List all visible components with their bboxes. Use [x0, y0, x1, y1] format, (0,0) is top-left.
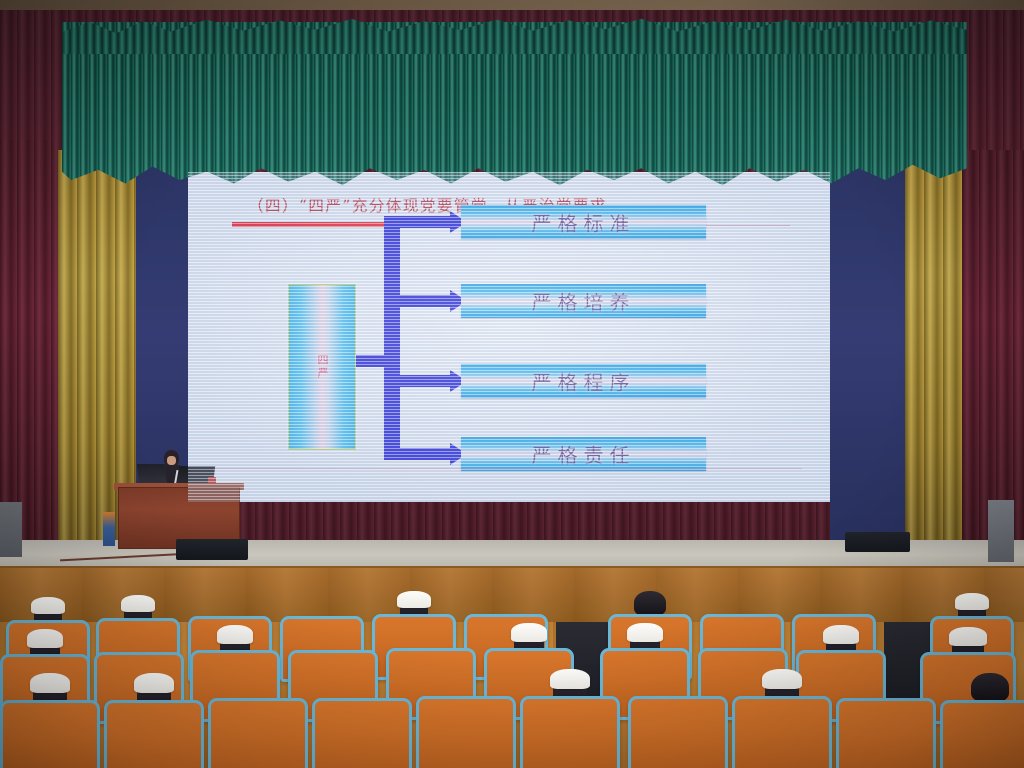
- nurse-cap-icon: [31, 597, 65, 614]
- stage-prop-object: [103, 512, 115, 546]
- nurse-cap-icon: [550, 669, 590, 690]
- auditorium-seat[interactable]: [0, 700, 100, 768]
- slide-footer-rule: [192, 468, 802, 469]
- nurse-cap-icon: [762, 669, 802, 690]
- nurse-cap-icon: [397, 591, 431, 608]
- auditorium-seat[interactable]: [520, 696, 620, 768]
- nurse-cap-icon: [30, 673, 70, 694]
- arrow-shaft: [388, 295, 456, 307]
- nurse-cap-icon: [134, 673, 174, 694]
- attendee-hair: [634, 591, 667, 616]
- pa-speaker-right: [988, 500, 1014, 562]
- stage-monitor-right: [845, 532, 910, 552]
- nurse-cap-icon: [121, 595, 155, 612]
- arrow-shaft: [388, 375, 456, 387]
- presenter-face: [167, 456, 176, 465]
- auditorium-seat[interactable]: [312, 698, 412, 768]
- nurse-cap-icon: [27, 629, 63, 648]
- nurse-cap-icon: [627, 623, 663, 642]
- slide-item-label-1: 严格标准: [461, 208, 706, 237]
- nurse-cap-icon: [955, 593, 989, 610]
- auditorium-seat[interactable]: [732, 696, 832, 768]
- arrow-shaft: [388, 216, 456, 228]
- nurse-cap-icon: [217, 625, 253, 644]
- stage-panel-navy-right: [830, 150, 906, 560]
- slide-item-bar-1: 严格标准: [461, 205, 706, 239]
- slide-item-bar-2: 严格培养: [461, 284, 706, 318]
- auditorium-seat[interactable]: [416, 696, 516, 768]
- bracket-spine: [384, 216, 400, 460]
- slide-item-label-2: 严格培养: [461, 287, 706, 316]
- diagram-source-label: 四严: [314, 354, 330, 380]
- auditorium-seat[interactable]: [836, 698, 936, 768]
- nurse-cap-icon: [823, 625, 859, 644]
- diagram-source-box: 四严: [288, 284, 356, 450]
- projection-screen[interactable]: （四）“四严”充分体现党要管党、从严治党要求 四严 严格标准: [188, 172, 830, 502]
- arrow-shaft: [388, 448, 456, 460]
- attendee-hair: [971, 673, 1009, 703]
- auditorium-seat[interactable]: [104, 700, 204, 768]
- nurse-cap-icon: [511, 623, 547, 642]
- slide-item-label-4: 严格责任: [461, 440, 706, 469]
- slide-item-bar-3: 严格程序: [461, 364, 706, 398]
- pa-speaker-left: [0, 502, 22, 557]
- auditorium-scene: （四）“四严”充分体现党要管党、从严治党要求 四严 严格标准: [0, 0, 1024, 768]
- slide-item-bar-4: 严格责任: [461, 437, 706, 471]
- auditorium-seat[interactable]: [628, 696, 728, 768]
- slide-item-label-3: 严格程序: [461, 367, 706, 396]
- curtain-gold-right: [905, 150, 967, 570]
- nurse-cap-icon: [949, 627, 987, 646]
- stage-monitor-left: [176, 539, 248, 560]
- auditorium-seat[interactable]: [208, 698, 308, 768]
- auditorium-seat[interactable]: [940, 700, 1024, 768]
